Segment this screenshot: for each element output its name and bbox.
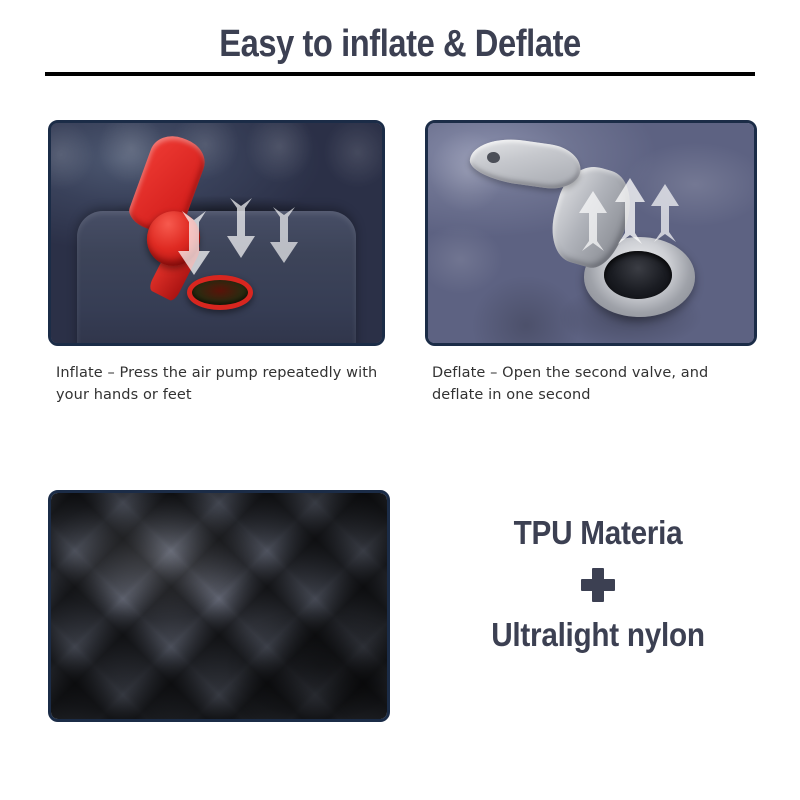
material-line-primary: TPU Materia [436,512,760,554]
title-divider [45,72,755,76]
airflow-up-arrow-icon [650,182,680,242]
deflate-photo [425,120,757,346]
page-title: Easy to inflate & Deflate [56,22,744,66]
grey-valve-opening-icon [604,251,672,299]
grey-valve-pull-tab-icon [468,133,584,192]
plus-icon [581,568,615,602]
quilted-texture-photo [48,490,390,722]
airflow-down-arrow-icon [269,207,299,265]
airflow-down-arrow-icon [226,198,256,260]
material-block: TPU Materia Ultralight nylon [418,512,778,656]
material-line-secondary: Ultralight nylon [436,614,760,656]
airflow-up-arrow-icon [614,176,646,244]
airflow-down-arrow-icon [177,211,211,277]
page-header: Easy to inflate & Deflate [0,0,800,92]
inflate-mat-surface [51,123,382,343]
deflate-mat-surface [428,123,754,343]
inflate-caption: Inflate – Press the air pump repeatedly … [56,362,401,406]
quilted-mat-surface [51,493,387,719]
deflate-caption: Deflate – Open the second valve, and def… [432,362,762,406]
red-valve-port-icon [187,275,253,310]
airflow-up-arrow-icon [578,189,608,251]
inflate-photo [48,120,385,346]
